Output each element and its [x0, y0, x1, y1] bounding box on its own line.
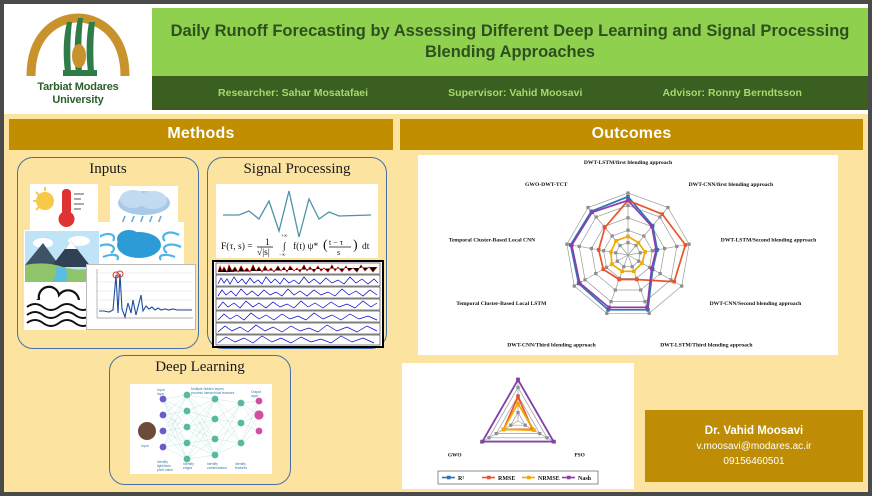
radar-legend-item: RMSE — [498, 476, 515, 482]
svg-text:F(τ, s) =: F(τ, s) = — [221, 241, 253, 252]
radar-axis-label: GWO-DWT-TCT — [525, 182, 568, 188]
university-logo-line1: Tarbiat Modares — [37, 81, 118, 93]
card-signal-processing-title: Signal Processing — [208, 158, 386, 178]
svg-text:Input: Input — [141, 444, 149, 448]
svg-text:layer: layer — [157, 392, 165, 396]
title-banner: Daily Runoff Forecasting by Assessing Di… — [152, 8, 868, 76]
contact-email[interactable]: v.moosavi@modares.ac.ir — [697, 441, 812, 452]
card-signal-processing: Signal Processing F(τ, s) = 1 √|s| ∫ +∞ … — [207, 157, 387, 349]
svg-text:dt: dt — [362, 242, 370, 252]
poster-body: Inputs — [4, 150, 868, 488]
contact-phone: 09156460501 — [723, 456, 784, 467]
radar-axis-label: PSO — [574, 453, 584, 459]
radar-axis-label: DWT-CNN/first blending approach — [689, 182, 774, 188]
card-deep-learning-title: Deep Learning — [110, 356, 290, 376]
section-title-bar: Methods Outcomes — [4, 114, 868, 150]
radar-axis-label: Temporal Cluster-Based Local CNN — [449, 238, 535, 244]
university-logo-line2: University — [52, 94, 103, 106]
contact-name: Dr. Vahid Moosavi — [705, 425, 803, 437]
radar-axis-label: DWT-LSTM/Second blending approach — [721, 238, 817, 244]
radar-chart-models: DWT-LSTM/first blending approachDWT-CNN/… — [418, 155, 838, 355]
svg-text:+∞: +∞ — [281, 234, 288, 239]
svg-text:pixel value: pixel value — [157, 468, 173, 472]
university-logo: Tarbiat Modares University — [4, 4, 152, 114]
contact-box: Dr. Vahid Moosavi v.moosavi@modares.ac.i… — [645, 410, 863, 482]
radar-chart-optimizers: GAPSOGWOR²RMSENRMSENash — [402, 363, 634, 489]
wavelet-mother-waveform: F(τ, s) = 1 √|s| ∫ +∞ −∞ f(t) ψ* t − τ s… — [216, 184, 378, 258]
card-deep-learning: Deep Learning — [109, 355, 291, 485]
svg-text:combinations: combinations — [207, 466, 227, 470]
radar-legend-item: Nash — [578, 476, 592, 482]
authors-banner: Researcher: Sahar Mosatafaei Supervisor:… — [152, 76, 868, 110]
svg-text:): ) — [353, 238, 358, 253]
methods-column: Inputs — [9, 155, 393, 482]
radar-legend-item: R² — [458, 476, 464, 482]
radar-axis-label: DWT-CNN/Third blending approach — [507, 343, 596, 349]
svg-text:features: features — [235, 466, 248, 470]
radar-axis-label: DWT-CNN/Second blending approach — [710, 301, 803, 307]
neural-network-diagram: Inputlayer Multiple hidden layers proces… — [130, 384, 272, 474]
radar-axis-label: GWO — [448, 453, 462, 459]
wavelet-decomposition-levels — [212, 260, 384, 348]
svg-text:s: s — [337, 248, 340, 257]
supervisor-label: Supervisor: Vahid Moosavi — [448, 87, 582, 99]
svg-text:f(t) ψ*: f(t) ψ* — [293, 241, 318, 252]
inputs-image-collage — [18, 178, 198, 330]
section-title-methods: Methods — [9, 119, 393, 150]
card-inputs: Inputs — [17, 157, 199, 349]
runoff-timeseries-plot — [86, 264, 196, 330]
outcomes-column: DWT-LSTM/first blending approachDWT-CNN/… — [400, 155, 863, 482]
thermometer-sun-icon — [30, 184, 98, 230]
svg-text:√|s|: √|s| — [257, 247, 270, 257]
svg-text:1: 1 — [265, 238, 270, 248]
section-title-outcomes: Outcomes — [400, 119, 863, 150]
svg-text:t − τ: t − τ — [329, 238, 344, 247]
svg-text:(: ( — [323, 238, 328, 253]
radar-axis-label: DWT-LSTM/first blending approach — [584, 160, 673, 166]
university-logo-mark — [23, 12, 133, 80]
radar-legend-item: NRMSE — [538, 476, 560, 482]
svg-text:process hierarchical features: process hierarchical features — [191, 391, 235, 395]
svg-text:−∞: −∞ — [279, 253, 286, 257]
svg-text:layer: layer — [251, 394, 259, 398]
advisor-label: Advisor: Ronny Berndtsson — [662, 87, 801, 99]
card-inputs-title: Inputs — [18, 158, 198, 178]
poster-header: Tarbiat Modares University Daily Runoff … — [4, 4, 868, 114]
header-title-column: Daily Runoff Forecasting by Assessing Di… — [152, 4, 868, 114]
page-title: Daily Runoff Forecasting by Assessing Di… — [162, 21, 858, 62]
radar-axis-label: DWT-LSTM/Third blending approach — [660, 343, 753, 349]
wind-cloud-icon — [94, 222, 184, 268]
researcher-label: Researcher: Sahar Mosatafaei — [218, 87, 368, 99]
radar-axis-label: Temporal Cluster-Based Local LSTM — [456, 301, 547, 307]
svg-text:edges: edges — [183, 466, 193, 470]
poster-root: Tarbiat Modares University Daily Runoff … — [0, 0, 872, 496]
